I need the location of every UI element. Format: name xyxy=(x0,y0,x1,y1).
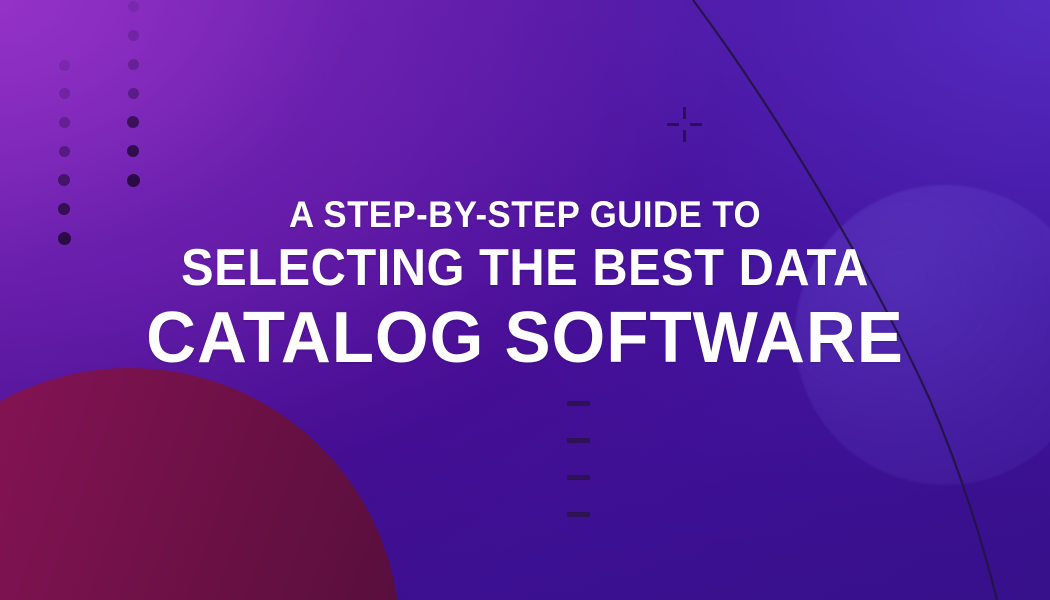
headline-line-3: CATALOG SOFTWARE xyxy=(21,302,1029,374)
crosshair-arm-bottom xyxy=(683,130,686,142)
headline-line-2: SELECTING THE BEST DATA xyxy=(32,242,1019,294)
dot xyxy=(128,30,139,41)
dash-mark xyxy=(567,475,590,480)
crosshair-arm-top xyxy=(683,107,686,119)
headline-line-1: A STEP-BY-STEP GUIDE TO xyxy=(32,196,1019,233)
dot xyxy=(128,1,139,12)
dot xyxy=(59,60,70,71)
headline-block: A STEP-BY-STEP GUIDE TO SELECTING THE BE… xyxy=(0,196,1050,374)
dot xyxy=(127,116,139,128)
dot xyxy=(128,59,139,70)
dot xyxy=(58,174,70,186)
dot xyxy=(127,145,139,157)
dot xyxy=(59,146,70,157)
dot xyxy=(127,174,140,187)
dash-mark xyxy=(567,401,590,406)
dot xyxy=(59,117,70,128)
dot xyxy=(128,88,139,99)
dot xyxy=(59,88,70,99)
crosshair-arm-left xyxy=(667,123,679,126)
dash-mark xyxy=(567,438,590,443)
banner-canvas: A STEP-BY-STEP GUIDE TO SELECTING THE BE… xyxy=(0,0,1050,600)
crosshair-marker xyxy=(667,107,702,142)
crosshair-arm-right xyxy=(690,123,702,126)
dash-mark xyxy=(567,512,590,517)
